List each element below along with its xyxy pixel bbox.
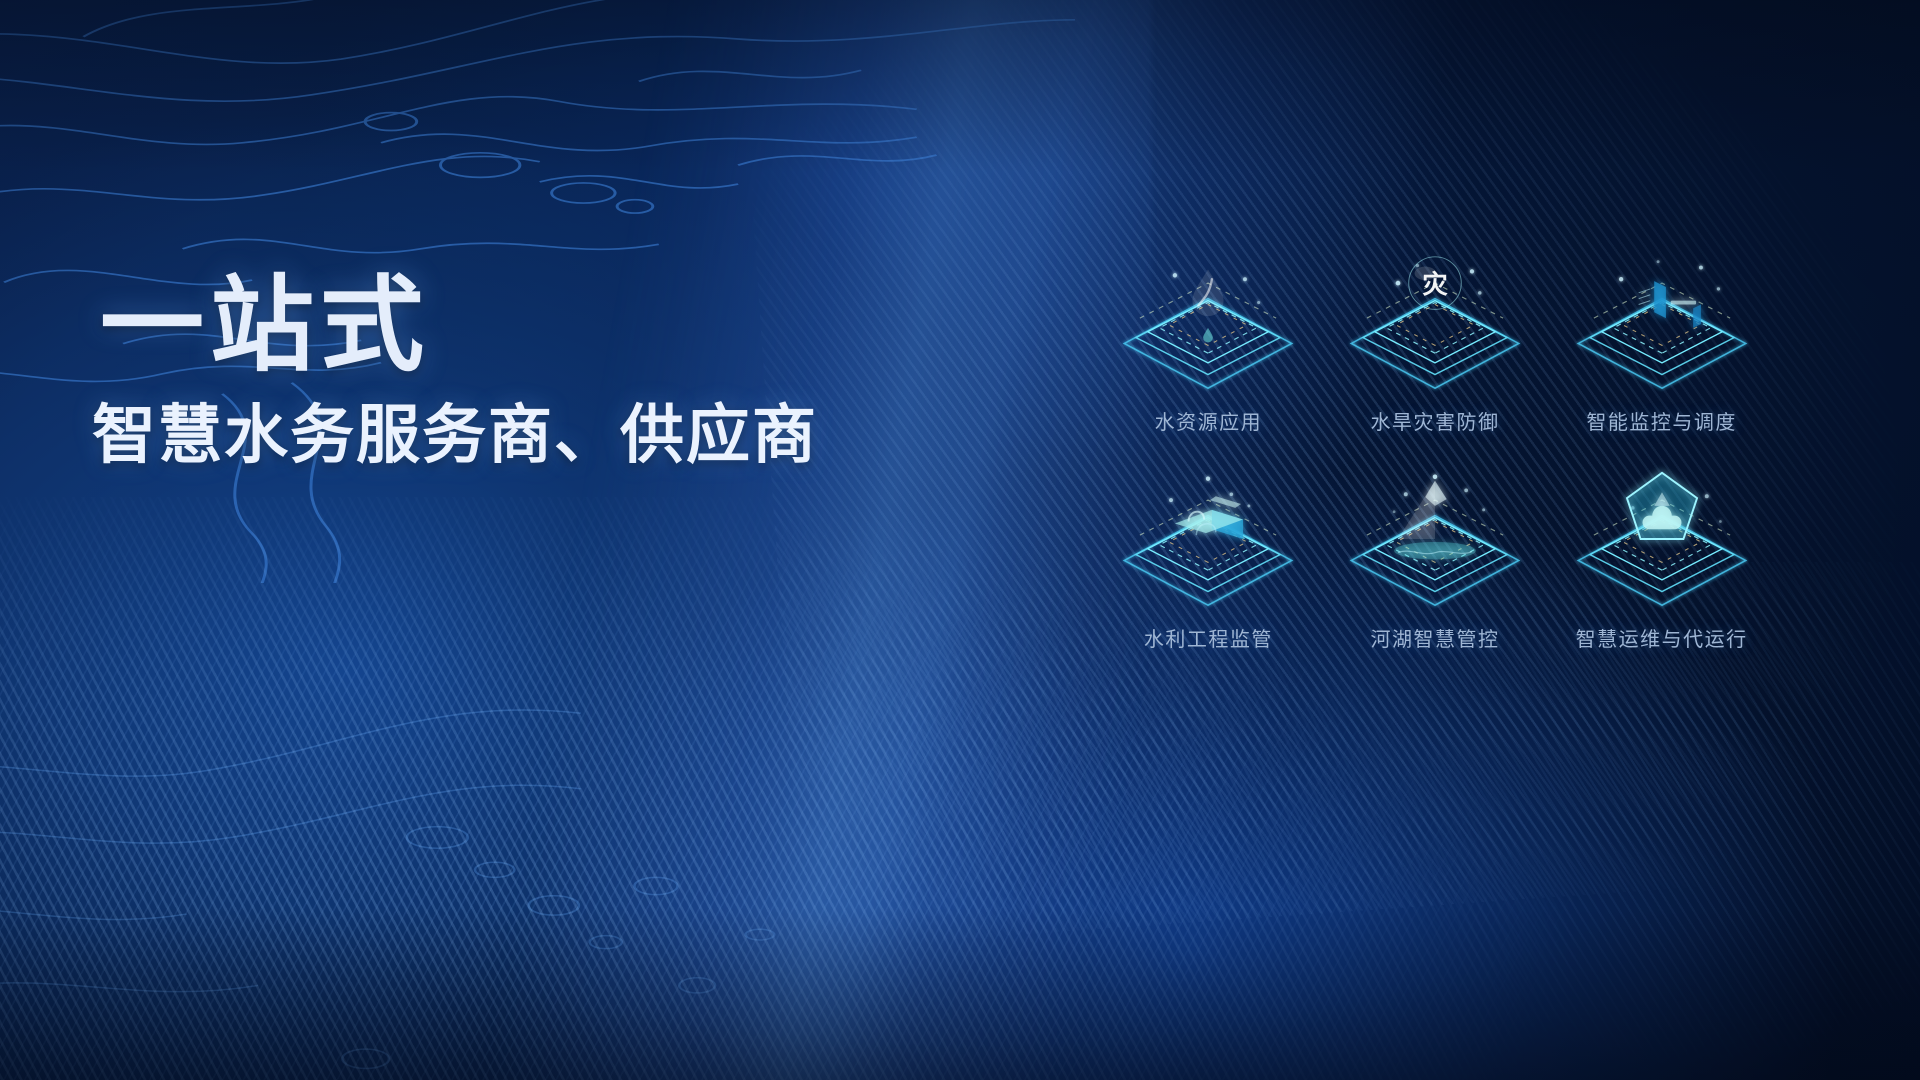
page-subtitle: 智慧水务服务商、供应商: [92, 398, 818, 474]
water-droplet-platform-icon: [1108, 250, 1308, 396]
hydro-buildings-platform-icon: [1108, 467, 1308, 613]
headline-block: 一站式 智慧水务服务商、供应商: [100, 270, 818, 474]
service-icon-cell[interactable]: 水利工程监管: [1095, 467, 1322, 652]
service-icon-cell[interactable]: 智慧运维与代运行: [1548, 467, 1775, 652]
dam-monitoring-platform-icon: [1562, 250, 1762, 396]
service-icon-cell[interactable]: 水资源应用: [1095, 250, 1322, 435]
service-icon-label: 水资源应用: [1155, 406, 1263, 435]
service-icon-label: 水利工程监管: [1144, 623, 1273, 652]
service-icon-cell[interactable]: 河湖智慧管控: [1322, 467, 1549, 652]
secondary-light-sweep: [0, 0, 1152, 1080]
service-icon-grid: 水资源应用 灾水旱灾害防御: [1095, 250, 1775, 652]
service-icon-label: 智能监控与调度: [1586, 406, 1737, 435]
service-icon-cell[interactable]: 灾水旱灾害防御: [1322, 250, 1549, 435]
page-title: 一站式: [100, 270, 818, 382]
disaster-sphere-platform-icon: 灾: [1335, 250, 1535, 396]
service-icon-label: 智慧运维与代运行: [1576, 623, 1748, 652]
service-icon-cell[interactable]: 智能监控与调度: [1548, 250, 1775, 435]
water-caustics-texture-bottom: [0, 562, 922, 1080]
service-icon-label: 河湖智慧管控: [1370, 623, 1499, 652]
service-icon-label: 水旱灾害防御: [1370, 406, 1499, 435]
svg-text:灾: 灾: [1422, 270, 1448, 299]
hero-banner: 一站式 智慧水务服务商、供应商 水资源应用: [0, 0, 1920, 1080]
shield-cloud-platform-icon: [1562, 467, 1762, 613]
river-lake-terrain-platform-icon: [1335, 467, 1535, 613]
